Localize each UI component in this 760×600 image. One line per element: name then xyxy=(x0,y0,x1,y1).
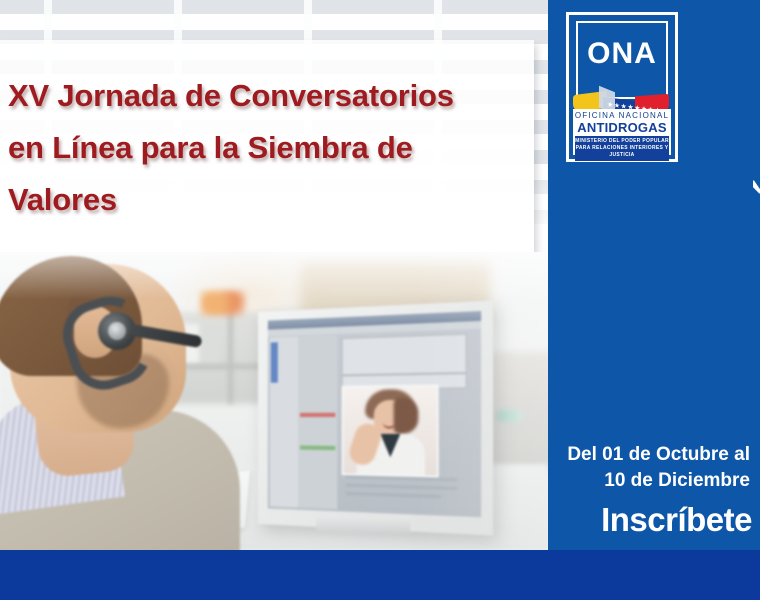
register-cta[interactable]: Inscríbete xyxy=(601,500,752,540)
headset-button xyxy=(108,322,126,340)
ona-org-line2: ANTIDROGAS xyxy=(573,120,671,135)
video-call-window xyxy=(342,384,439,477)
bottom-bar xyxy=(0,550,548,600)
man-with-headset xyxy=(0,260,300,550)
invitation-vertical-label: INVITACIÓN xyxy=(752,0,760,436)
caller-hair-front xyxy=(394,398,419,435)
ona-logo: ONA ★★★★★★★★ OFICINA NACIONAL ANTIDROGAS… xyxy=(566,12,678,162)
left-content-area: XV Jornada de Conversatorios en Línea pa… xyxy=(0,0,548,600)
app-row xyxy=(346,484,458,491)
page-title: XV Jornada de Conversatorios en Línea pa… xyxy=(8,70,528,226)
monitor-stand xyxy=(316,517,410,534)
hero-photo-content xyxy=(0,252,548,550)
ona-ministry-line: MINISTERIO DEL PODER POPULAR PARA RELACI… xyxy=(575,136,669,161)
event-dates: Del 01 de Octubre al 10 de Diciembre xyxy=(556,442,750,494)
ona-acronym: ONA xyxy=(578,39,666,69)
bottle-on-couch xyxy=(496,410,524,422)
app-left-list xyxy=(298,335,337,509)
invitation-poster: XV Jornada de Conversatorios en Línea pa… xyxy=(0,0,760,600)
app-panel-top xyxy=(342,334,467,376)
app-ok-row xyxy=(300,446,335,451)
hero-photo xyxy=(0,252,548,550)
right-sidebar: ONA ★★★★★★★★ OFICINA NACIONAL ANTIDROGAS… xyxy=(548,0,760,600)
ona-logo-text-block: OFICINA NACIONAL ANTIDROGAS MINISTERIO D… xyxy=(573,109,671,155)
bottom-bar-right xyxy=(548,550,760,600)
app-alert-row xyxy=(300,413,335,417)
app-row xyxy=(346,492,441,498)
